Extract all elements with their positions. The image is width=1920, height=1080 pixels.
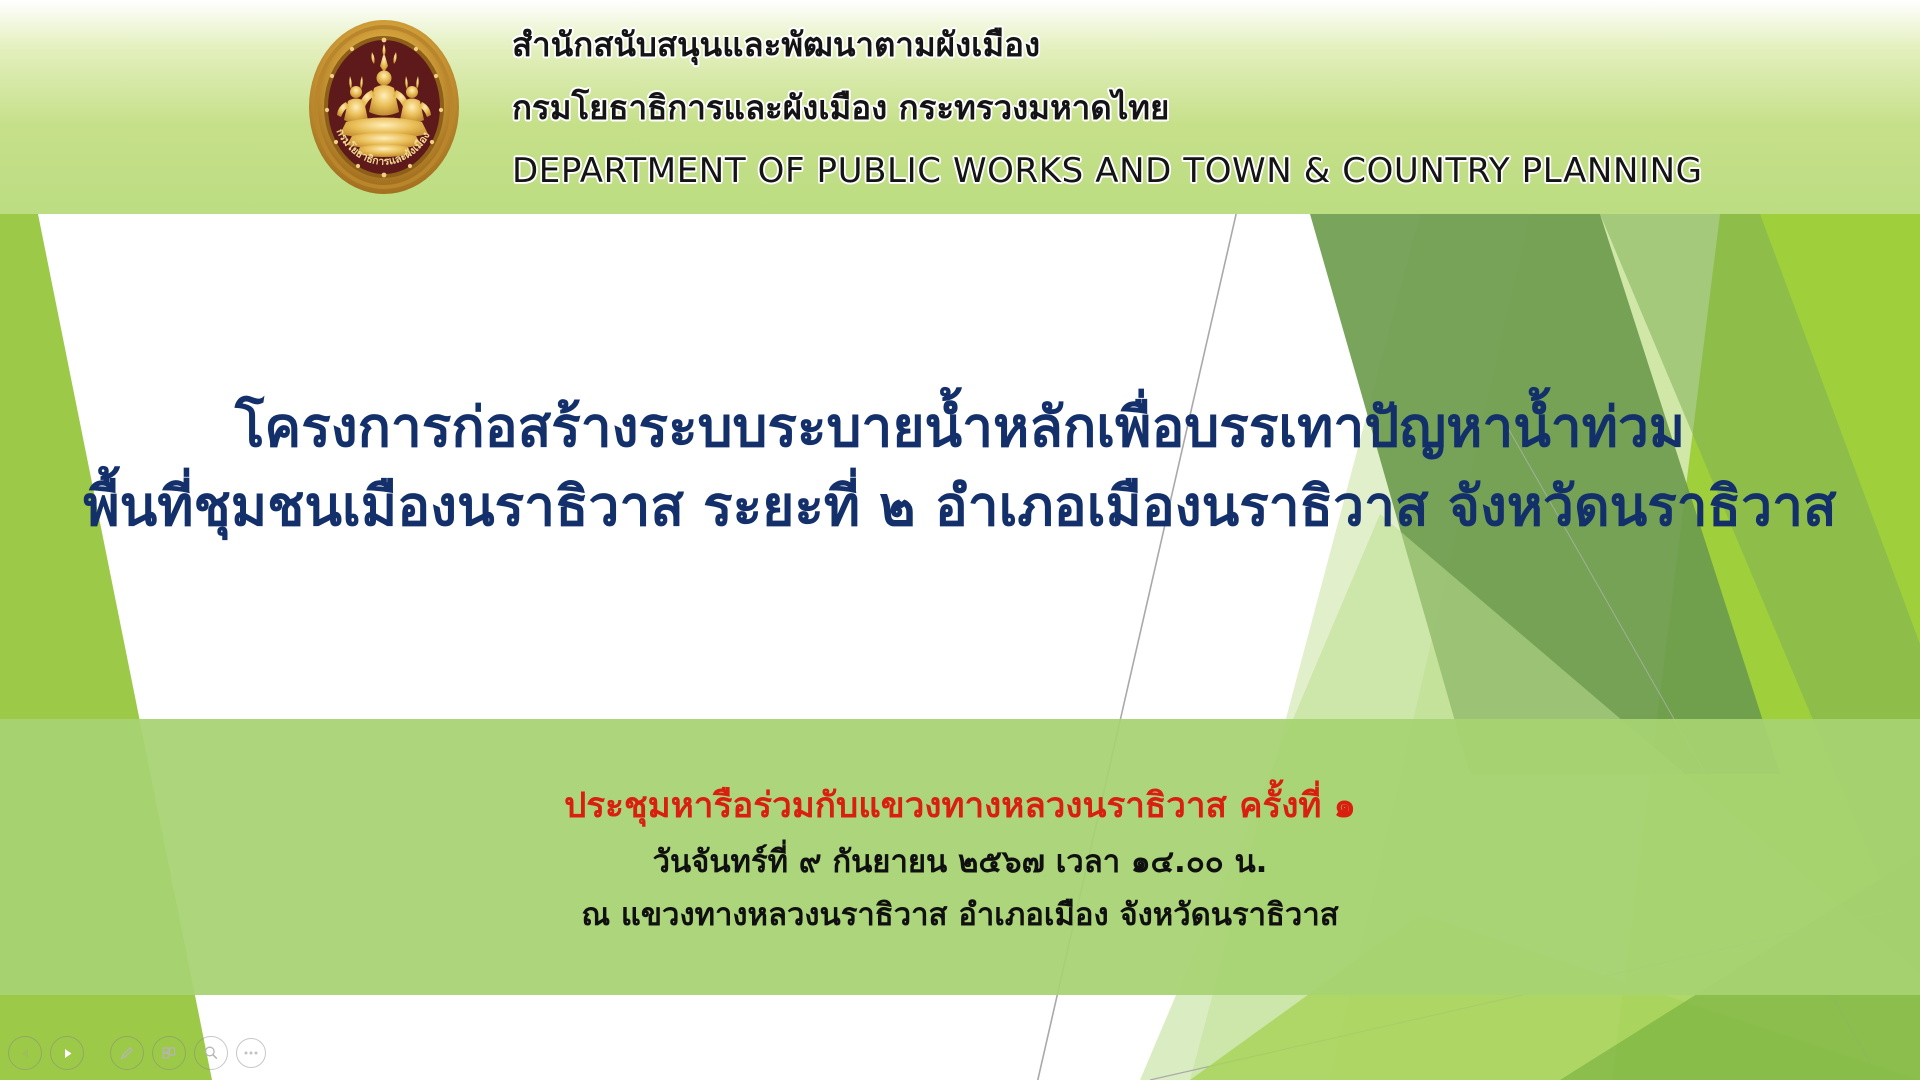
header-english-line: DEPARTMENT OF PUBLIC WORKS AND TOWN & CO… — [512, 154, 1772, 188]
magnify-icon[interactable] — [194, 1036, 228, 1070]
pen-icon[interactable] — [110, 1036, 144, 1070]
meeting-venue: ณ แขวงทางหลวงนราธิวาส อำเภอเมือง จังหวัด… — [581, 896, 1338, 935]
header-text-block: สำนักสนับสนุนและพัฒนาตามผังเมือง กรมโยธา… — [512, 14, 1772, 188]
meeting-datetime: วันจันทร์ที่ ๙ กันยายน ๒๕๖๗ เวลา ๑๔.๐๐ น… — [653, 843, 1268, 882]
presentation-slide: กรมโยธาธิการและผังเมือง สำนักสนับสนุนและ… — [0, 0, 1920, 1080]
meeting-heading: ประชุมหารือร่วมกับแขวงทางหลวงนราธิวาส คร… — [564, 785, 1356, 829]
slide-title-block: โครงการก่อสร้างระบบระบายน้ำหลักเพื่อบรรเ… — [0, 214, 1920, 719]
slide-header: กรมโยธาธิการและผังเมือง สำนักสนับสนุนและ… — [0, 0, 1920, 214]
header-department-line: กรมโยธาธิการและผังเมือง กระทรวงมหาดไทย — [512, 91, 1772, 124]
next-slide-icon[interactable] — [50, 1036, 84, 1070]
slideshow-toolbar[interactable] — [8, 1036, 266, 1070]
project-title-line-1: โครงการก่อสร้างระบบระบายน้ำหลักเพื่อบรรเ… — [235, 395, 1685, 460]
royal-thai-dpt-emblem-icon: กรมโยธาธิการและผังเมือง — [306, 18, 462, 196]
previous-slide-icon[interactable] — [8, 1036, 42, 1070]
more-options-icon[interactable] — [236, 1038, 266, 1068]
header-office-line: สำนักสนับสนุนและพัฒนาตามผังเมือง — [512, 28, 1772, 61]
meeting-info-band: ประชุมหารือร่วมกับแขวงทางหลวงนราธิวาส คร… — [0, 719, 1920, 995]
project-title-line-2: พื้นที่ชุมชนเมืองนราธิวาส ระยะที่ ๒ อำเภ… — [83, 474, 1836, 539]
slides-grid-icon[interactable] — [152, 1036, 186, 1070]
